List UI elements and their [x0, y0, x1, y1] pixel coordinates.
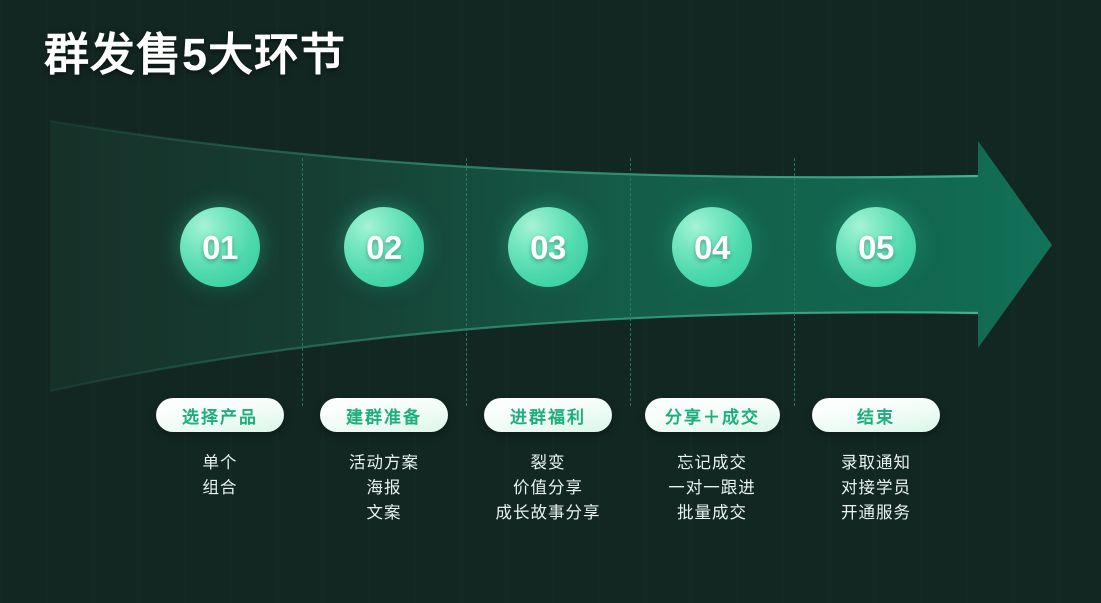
step-sublist-03: 裂变 价值分享 成长故事分享 — [458, 451, 638, 526]
step-number-04: 04 — [694, 231, 730, 264]
step-label-02: 建群准备 — [346, 403, 422, 428]
step-sublist-02: 活动方案 海报 文案 — [304, 451, 464, 526]
step-number-02: 02 — [366, 231, 402, 264]
sub-item: 开通服务 — [796, 501, 956, 526]
step-node-01[interactable]: 01 — [180, 207, 260, 287]
arrow-head-joint — [955, 176, 985, 313]
sub-item: 裂变 — [458, 451, 638, 476]
step-label-01: 选择产品 — [182, 403, 258, 428]
page-title: 群发售5大环节 — [44, 18, 346, 83]
sub-item: 活动方案 — [304, 451, 464, 476]
sub-item: 海报 — [304, 476, 464, 501]
divider-3 — [630, 158, 631, 406]
arrow-head — [978, 141, 1052, 348]
step-label-03: 进群福利 — [510, 403, 586, 428]
step-number-05: 05 — [858, 231, 894, 264]
step-number-01: 01 — [202, 231, 238, 264]
step-pill-05[interactable]: 结束 — [812, 398, 940, 432]
slide-canvas: 群发售5大环节 — [0, 0, 1101, 603]
divider-4 — [794, 158, 795, 406]
sub-item: 成长故事分享 — [458, 501, 638, 526]
step-node-03[interactable]: 03 — [508, 207, 588, 287]
sub-item: 文案 — [304, 501, 464, 526]
divider-2 — [466, 158, 467, 406]
sub-item: 批量成交 — [632, 501, 792, 526]
sub-item: 忘记成交 — [632, 451, 792, 476]
step-number-03: 03 — [530, 231, 566, 264]
sub-item: 单个 — [140, 451, 300, 476]
step-pill-01[interactable]: 选择产品 — [156, 398, 284, 432]
step-node-02[interactable]: 02 — [344, 207, 424, 287]
step-pill-03[interactable]: 进群福利 — [484, 398, 612, 432]
step-node-04[interactable]: 04 — [672, 207, 752, 287]
step-pill-02[interactable]: 建群准备 — [320, 398, 448, 432]
step-label-04: 分享＋成交 — [665, 403, 760, 428]
step-sublist-04: 忘记成交 一对一跟进 批量成交 — [632, 451, 792, 526]
sub-item: 录取通知 — [796, 451, 956, 476]
step-sublist-05: 录取通知 对接学员 开通服务 — [796, 451, 956, 526]
sub-item: 组合 — [140, 476, 300, 501]
divider-1 — [302, 158, 303, 406]
sub-item: 价值分享 — [458, 476, 638, 501]
step-label-05: 结束 — [857, 403, 895, 428]
step-sublist-01: 单个 组合 — [140, 451, 300, 501]
sub-item: 对接学员 — [796, 476, 956, 501]
step-node-05[interactable]: 05 — [836, 207, 916, 287]
step-pill-04[interactable]: 分享＋成交 — [645, 398, 780, 432]
sub-item: 一对一跟进 — [632, 476, 792, 501]
